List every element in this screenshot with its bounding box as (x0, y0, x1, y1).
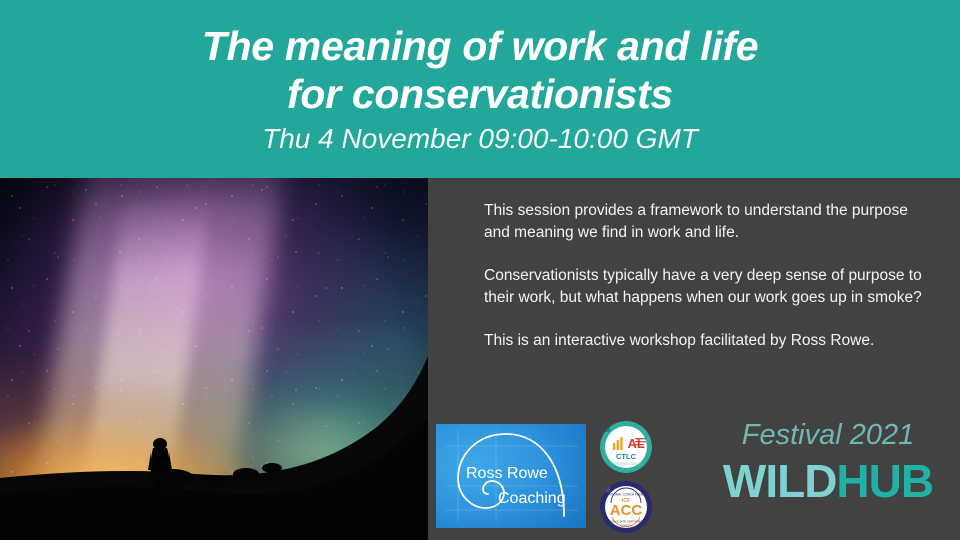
svg-text:CTLC: CTLC (616, 452, 637, 461)
icf-acc-certification-badge: INTERNATIONAL COACH FEDERATION ICF ACC A… (600, 481, 652, 533)
event-promo-slide: The meaning of work and life for conserv… (0, 0, 960, 540)
page-title-line-2: for conservationists (287, 70, 673, 118)
ross-rowe-line-1: Ross Rowe (466, 464, 548, 483)
wordmark-hub: HUB (836, 455, 933, 507)
festival-year-label: Festival 2021 (700, 418, 956, 452)
slide-header: The meaning of work and life for conserv… (0, 0, 960, 178)
ross-rowe-wordmark: Ross Rowe Coaching (436, 424, 586, 528)
night-sky-milky-way-photo (0, 178, 428, 540)
ross-rowe-line-2: Coaching (498, 489, 566, 508)
svg-text:COACH: COACH (621, 524, 632, 528)
svg-text:INTERNATIONAL COACH FEDERATION: INTERNATIONAL COACH FEDERATION (600, 493, 652, 497)
wildhub-wordmark: WILDHUB (700, 455, 956, 507)
page-title-line-1: The meaning of work and life (202, 22, 759, 70)
description-panel: This session provides a framework to und… (428, 178, 960, 540)
wildhub-branding: Festival 2021 WILDHUB (700, 418, 956, 507)
event-datetime: Thu 4 November 09:00-10:00 GMT (262, 122, 698, 156)
logo-strip: Ross Rowe Coaching AL (428, 178, 960, 540)
ross-rowe-coaching-logo: Ross Rowe Coaching (436, 424, 586, 528)
svg-text:CERTIFIED COACH: CERTIFIED COACH (610, 462, 642, 466)
ctlc-certification-badge: AL CTLC CERTIFIED COACH (600, 421, 652, 473)
wordmark-wild: WILD (723, 455, 837, 507)
foreground-silhouette (0, 178, 428, 540)
svg-text:ACC: ACC (610, 502, 643, 519)
